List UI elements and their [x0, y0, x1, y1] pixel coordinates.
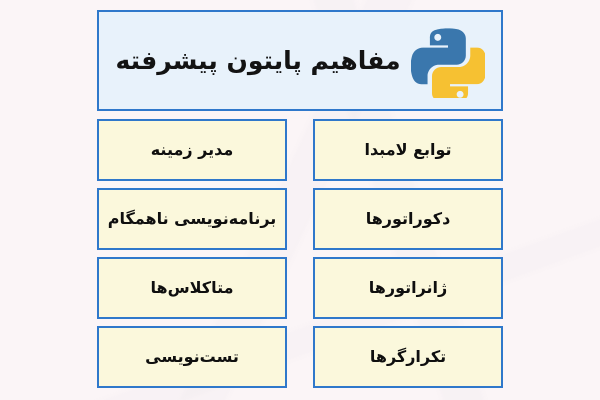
topic-card-generators[interactable]: ژانراتورها [313, 257, 503, 319]
topic-card-iterators[interactable]: تکرارگرها [313, 326, 503, 388]
topic-card-lambda-functions[interactable]: توابع لامبدا [313, 119, 503, 181]
topic-label: مدیر زمینه [151, 140, 234, 160]
topic-label: توابع لامبدا [364, 140, 451, 160]
topic-label: متاکلاس‌ها [150, 278, 233, 298]
infographic-root: مفاهیم پایتون پیشرفته توابع لامبدا مدیر … [0, 0, 600, 400]
header-card: مفاهیم پایتون پیشرفته [97, 10, 503, 111]
topic-card-async-programming[interactable]: برنامه‌نویسی ناهمگام [97, 188, 287, 250]
topic-label: ژانراتورها [369, 278, 448, 298]
topic-card-testing[interactable]: تست‌نویسی [97, 326, 287, 388]
python-logo-icon [411, 24, 485, 98]
topic-label: تست‌نویسی [145, 347, 239, 367]
topic-card-context-manager[interactable]: مدیر زمینه [97, 119, 287, 181]
topic-label: تکرارگرها [370, 347, 446, 367]
page-title: مفاهیم پایتون پیشرفته [115, 45, 400, 76]
topic-card-metaclasses[interactable]: متاکلاس‌ها [97, 257, 287, 319]
content-board: مفاهیم پایتون پیشرفته توابع لامبدا مدیر … [97, 10, 503, 386]
topic-card-decorators[interactable]: دکوراتورها [313, 188, 503, 250]
topic-label: دکوراتورها [366, 209, 451, 229]
topic-label: برنامه‌نویسی ناهمگام [108, 209, 277, 229]
topics-grid: توابع لامبدا مدیر زمینه دکوراتورها برنام… [97, 119, 503, 388]
